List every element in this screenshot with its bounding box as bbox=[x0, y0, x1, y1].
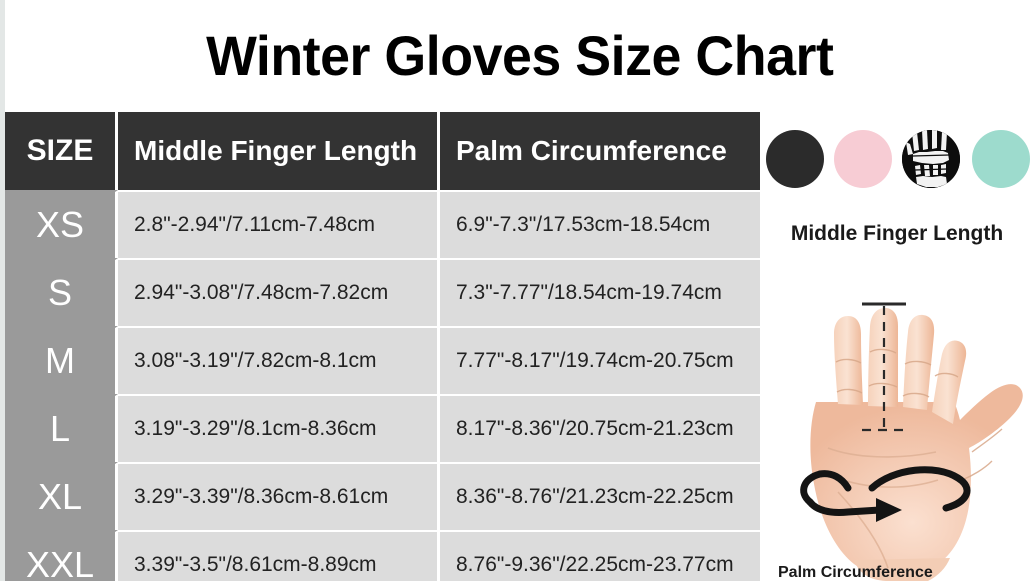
right-panel: Middle Finger Length bbox=[760, 112, 1034, 581]
swatch-pink[interactable] bbox=[834, 130, 892, 188]
cell-size: XXL bbox=[5, 530, 118, 581]
cell-finger-length: 2.94"-3.08"/7.48cm-7.82cm bbox=[118, 258, 440, 326]
header-middle-finger-length: Middle Finger Length bbox=[118, 112, 440, 190]
swatch-mint[interactable] bbox=[972, 130, 1030, 188]
cell-palm-circumference: 6.9"-7.3"/17.53cm-18.54cm bbox=[440, 190, 760, 258]
cell-palm-circumference: 7.3"-7.77"/18.54cm-19.74cm bbox=[440, 258, 760, 326]
color-swatch-row bbox=[760, 128, 1034, 190]
header-size: SIZE bbox=[5, 112, 118, 190]
size-chart-page: Winter Gloves Size Chart SIZE Middle Fin… bbox=[0, 0, 1034, 581]
cell-finger-length: 3.08"-3.19"/7.82cm-8.1cm bbox=[118, 326, 440, 394]
size-chart-table: SIZE Middle Finger Length Palm Circumfer… bbox=[5, 112, 760, 576]
swatch-skeleton-print[interactable] bbox=[902, 130, 960, 188]
cell-finger-length: 3.29"-3.39"/8.36cm-8.61cm bbox=[118, 462, 440, 530]
table-row: L 3.19"-3.29"/8.1cm-8.36cm 8.17"-8.36"/2… bbox=[5, 394, 760, 462]
cell-palm-circumference: 8.76"-9.36"/22.25cm-23.77cm bbox=[440, 530, 760, 581]
palm-circumference-label: Palm Circumference bbox=[778, 564, 933, 581]
table-row: XL 3.29"-3.39"/8.36cm-8.61cm 8.36"-8.76"… bbox=[5, 462, 760, 530]
hand-diagram bbox=[776, 252, 1034, 581]
cell-finger-length: 3.39"-3.5"/8.61cm-8.89cm bbox=[118, 530, 440, 581]
cell-palm-circumference: 8.36"-8.76"/21.23cm-22.25cm bbox=[440, 462, 760, 530]
cell-size: L bbox=[5, 394, 118, 462]
hand-illustration bbox=[810, 308, 1022, 581]
cell-finger-length: 3.19"-3.29"/8.1cm-8.36cm bbox=[118, 394, 440, 462]
cell-size: XL bbox=[5, 462, 118, 530]
table-row: XXL 3.39"-3.5"/8.61cm-8.89cm 8.76"-9.36"… bbox=[5, 530, 760, 581]
header-palm-circumference: Palm Circumference bbox=[440, 112, 760, 190]
title-bar: Winter Gloves Size Chart bbox=[5, 0, 1034, 110]
table-header-row: SIZE Middle Finger Length Palm Circumfer… bbox=[5, 112, 760, 190]
table-row: XS 2.8"-2.94"/7.11cm-7.48cm 6.9"-7.3"/17… bbox=[5, 190, 760, 258]
cell-palm-circumference: 7.77"-8.17"/19.74cm-20.75cm bbox=[440, 326, 760, 394]
cell-palm-circumference: 8.17"-8.36"/20.75cm-21.23cm bbox=[440, 394, 760, 462]
table-row: M 3.08"-3.19"/7.82cm-8.1cm 7.77"-8.17"/1… bbox=[5, 326, 760, 394]
cell-size: S bbox=[5, 258, 118, 326]
skeleton-print-icon bbox=[902, 130, 960, 188]
page-title: Winter Gloves Size Chart bbox=[206, 23, 833, 88]
swatch-black[interactable] bbox=[766, 130, 824, 188]
middle-finger-length-label: Middle Finger Length bbox=[760, 222, 1034, 246]
cell-finger-length: 2.8"-2.94"/7.11cm-7.48cm bbox=[118, 190, 440, 258]
cell-size: XS bbox=[5, 190, 118, 258]
cell-size: M bbox=[5, 326, 118, 394]
table-row: S 2.94"-3.08"/7.48cm-7.82cm 7.3"-7.77"/1… bbox=[5, 258, 760, 326]
